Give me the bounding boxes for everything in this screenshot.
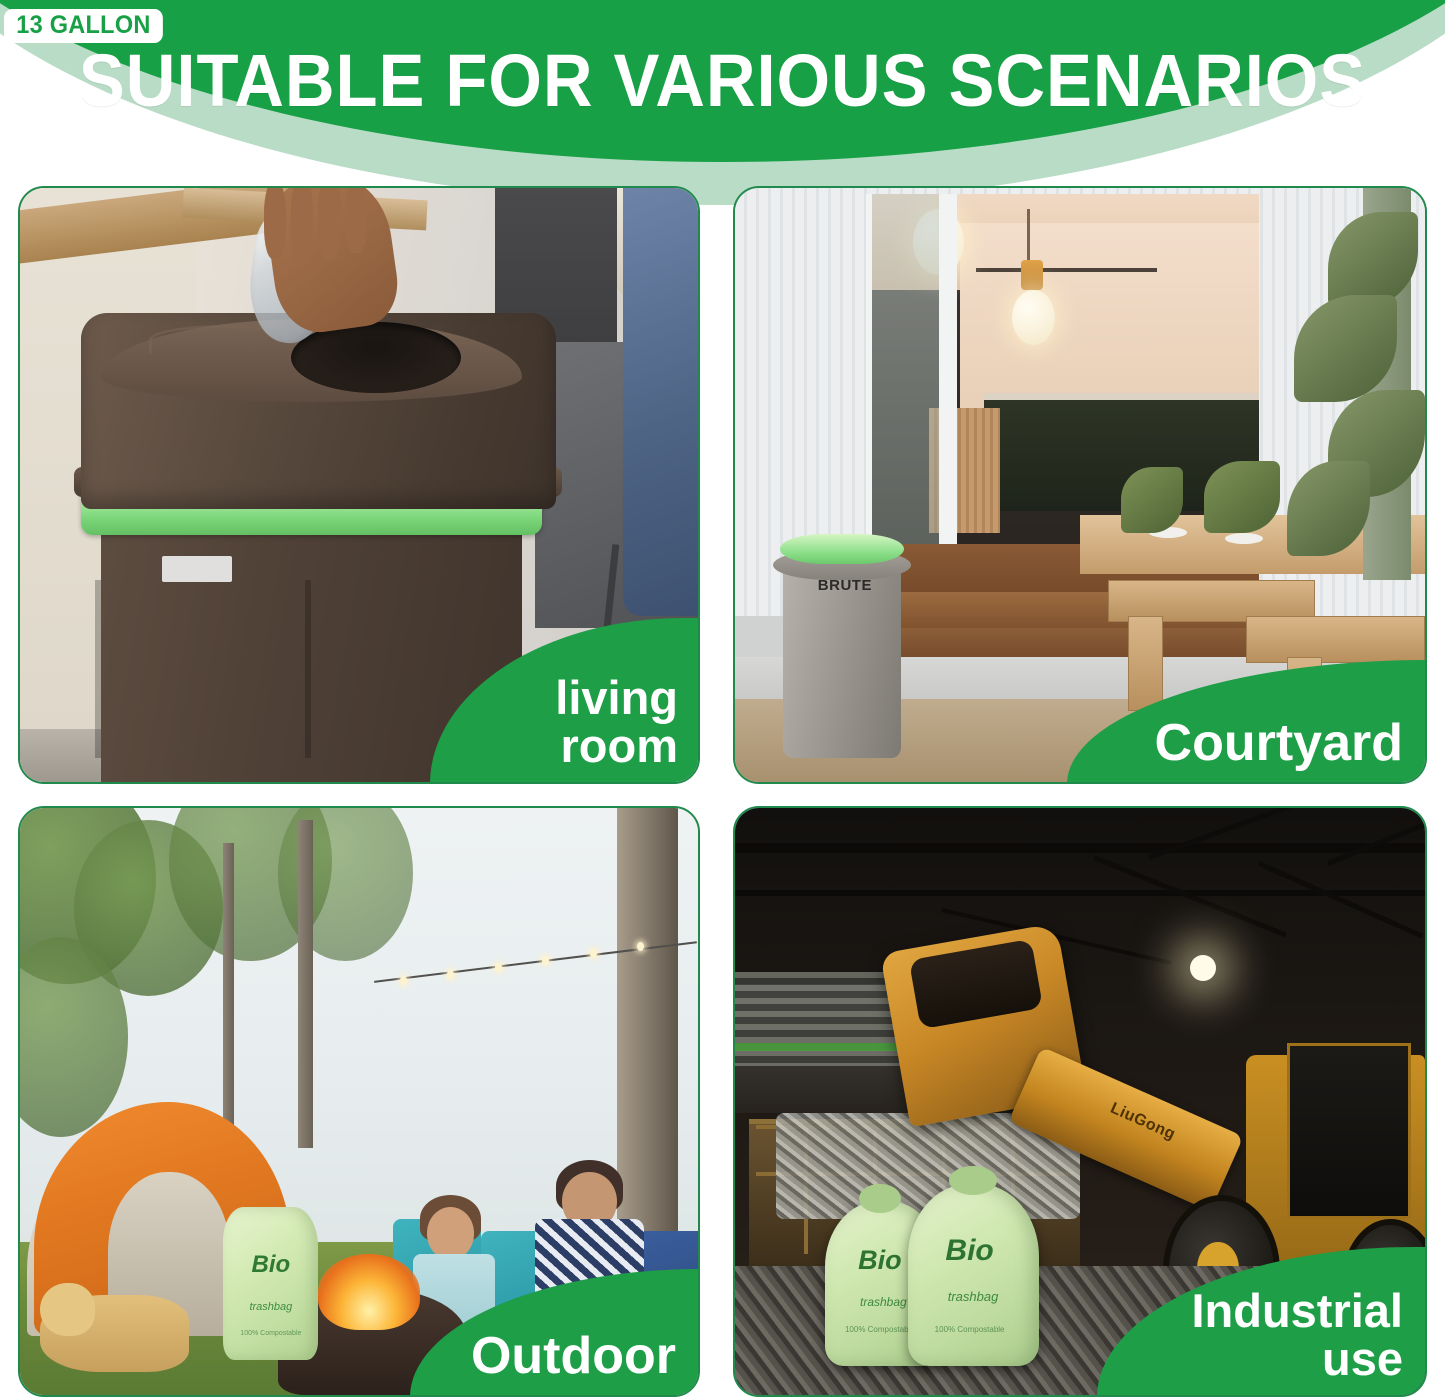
loader-cab bbox=[1287, 1043, 1411, 1219]
bag-brand-subtext: trashbag bbox=[230, 1301, 311, 1313]
open-doorway bbox=[866, 194, 1259, 562]
label-living-room-line1: living bbox=[555, 674, 678, 722]
label-courtyard-text: Courtyard bbox=[1155, 717, 1403, 770]
bag-brand-logo-2: Bio bbox=[914, 1237, 1024, 1266]
label-industrial-line1: Industrial bbox=[1191, 1287, 1403, 1335]
table-plant-2 bbox=[1204, 461, 1280, 532]
person-jeans bbox=[623, 188, 698, 616]
dog-head bbox=[40, 1283, 94, 1336]
panel-courtyard: BRUTE Courtyard bbox=[733, 186, 1427, 784]
finger-2 bbox=[291, 188, 313, 265]
bag-tie-1 bbox=[859, 1184, 900, 1213]
child-head bbox=[427, 1207, 474, 1260]
scene-courtyard: BRUTE Courtyard bbox=[735, 188, 1425, 782]
sliding-door-left bbox=[866, 194, 945, 562]
brute-brand-text: BRUTE bbox=[818, 577, 872, 594]
trash-can-opening bbox=[291, 322, 461, 393]
campfire-flame bbox=[318, 1254, 420, 1330]
string-bulb-1 bbox=[400, 976, 407, 985]
pendant-globe bbox=[1012, 290, 1055, 345]
finger-1 bbox=[264, 188, 286, 259]
scenario-grid: living room bbox=[0, 186, 1445, 1397]
trash-can-ridge-left bbox=[95, 580, 101, 758]
label-outdoor-text: Outdoor bbox=[471, 1330, 676, 1383]
table-plate-2 bbox=[1225, 533, 1263, 544]
curtain-rail bbox=[976, 268, 1157, 272]
compostable-trash-bag-2 bbox=[908, 1184, 1039, 1366]
bench-right bbox=[1246, 616, 1425, 664]
string-bulb-5 bbox=[590, 949, 597, 958]
infographic-root: 13 GALLON SUITABLE FOR VARIOUS SCENARIOS bbox=[0, 0, 1445, 1397]
string-bulb-4 bbox=[542, 956, 549, 965]
tree-trunk-large bbox=[617, 808, 678, 1242]
string-bulb-3 bbox=[495, 963, 502, 972]
pendant-cap bbox=[1021, 260, 1043, 290]
label-industrial-line2: use bbox=[1191, 1335, 1403, 1383]
bag-brand-logo: Bio bbox=[234, 1254, 309, 1277]
panel-outdoor: Bio trashbag 100% Compostable Outdoor bbox=[18, 806, 700, 1397]
scene-industrial: LiuGong Bio trashbag 100% Compostable Bi… bbox=[735, 808, 1425, 1395]
header-banner: 13 GALLON SUITABLE FOR VARIOUS SCENARIOS bbox=[0, 0, 1445, 215]
pendant-cord bbox=[1027, 209, 1030, 268]
string-bulb-6 bbox=[637, 942, 644, 951]
panel-living-room: living room bbox=[18, 186, 700, 784]
trash-can-brand-sticker bbox=[162, 556, 232, 582]
ceiling-lamp bbox=[1190, 955, 1216, 981]
tree-trunk-1 bbox=[298, 820, 313, 1149]
scene-outdoor: Bio trashbag 100% Compostable Outdoor bbox=[20, 808, 698, 1395]
finger-4 bbox=[345, 188, 367, 253]
scene-living-room: living room bbox=[20, 188, 698, 782]
finger-3 bbox=[318, 188, 341, 259]
trash-can-ridge-right bbox=[305, 580, 311, 758]
sliding-door-frame bbox=[945, 194, 957, 562]
tree-trunk-2 bbox=[223, 843, 234, 1125]
compostable-liner bbox=[780, 534, 904, 564]
gallon-size-badge: 13 GALLON bbox=[4, 9, 163, 43]
bag-compostable-text-2: 100% Compostable bbox=[901, 1325, 1039, 1334]
bag-brand-subtext-2: trashbag bbox=[914, 1289, 1031, 1304]
panel-industrial-use: LiuGong Bio trashbag 100% Compostable Bi… bbox=[733, 806, 1427, 1397]
roof-beam-1 bbox=[735, 843, 1425, 853]
table-plant-1 bbox=[1121, 467, 1183, 532]
page-title: SUITABLE FOR VARIOUS SCENARIOS bbox=[51, 44, 1395, 118]
bench-leg-1 bbox=[1128, 616, 1163, 711]
label-living-room-line2: room bbox=[555, 722, 678, 770]
bag-compostable-text: 100% Compostable bbox=[227, 1330, 315, 1337]
